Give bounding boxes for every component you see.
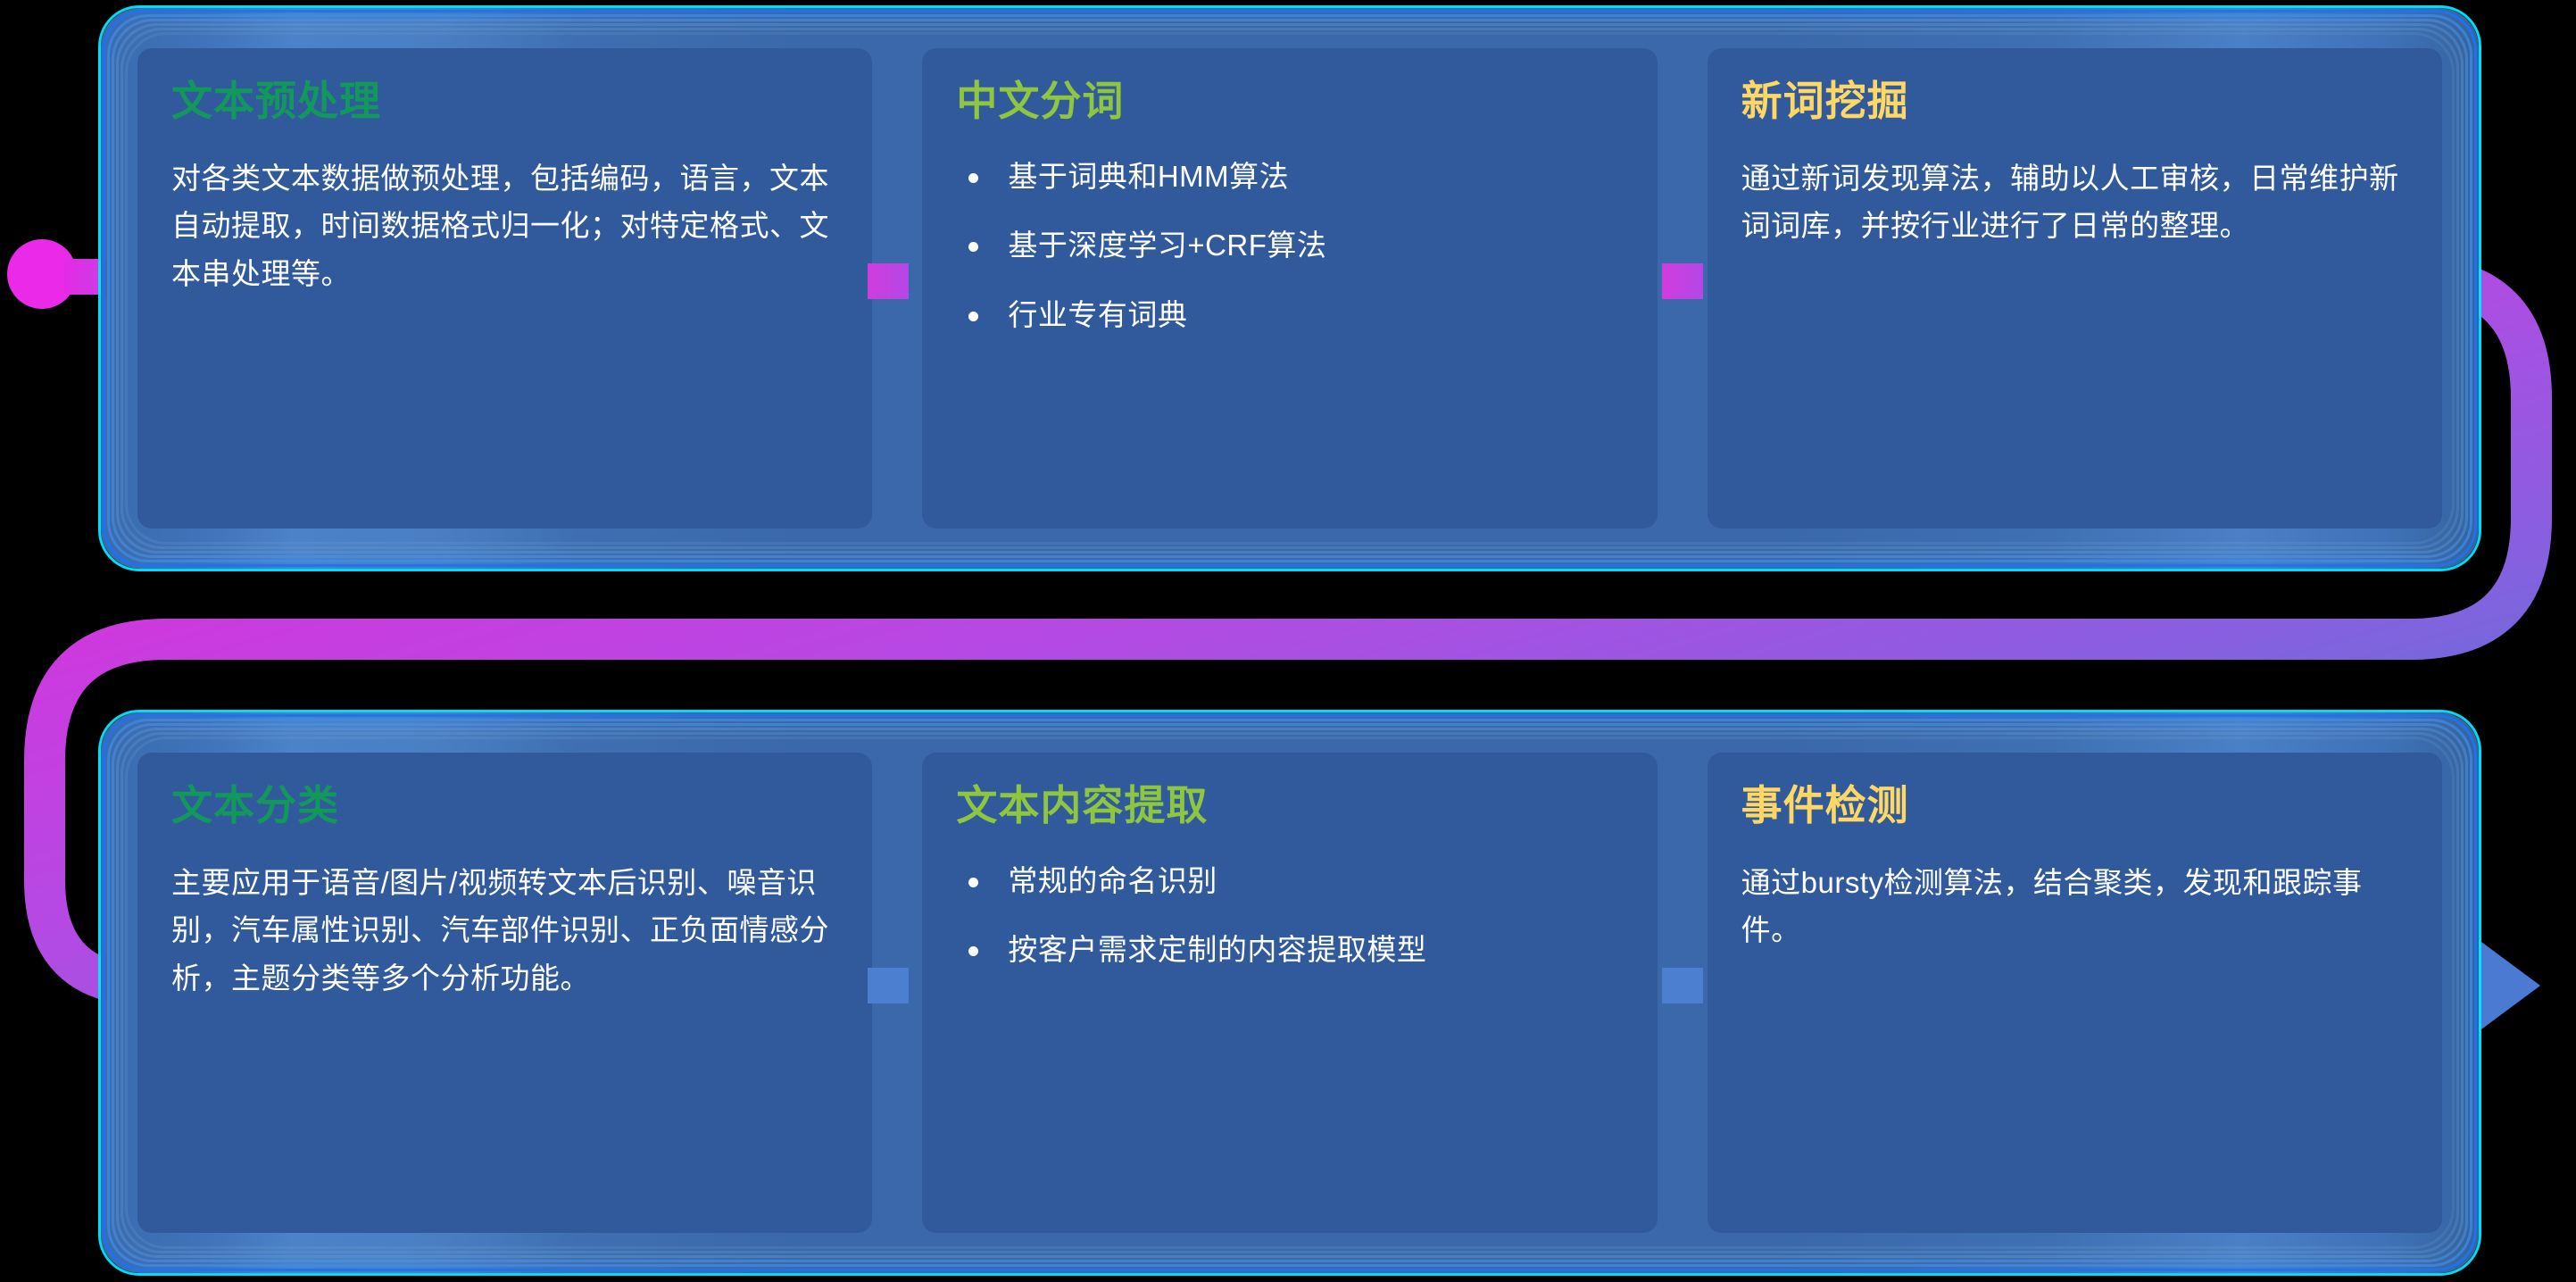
card-title: 文本分类 [171, 783, 838, 828]
card-bullet-list: 基于词典和HMM算法 基于深度学习+CRF算法 行业专有词典 [956, 154, 1623, 337]
card-title: 中文分词 [956, 79, 1623, 124]
row-top: 文本预处理 对各类文本数据做预处理，包括编码，语言，文本自动提取，时间数据格式归… [98, 5, 2481, 571]
row-bottom-cards: 文本分类 主要应用于语音/图片/视频转文本后识别、噪音识别，汽车属性识别、汽车部… [98, 710, 2481, 1276]
list-item: 基于词典和HMM算法 [956, 154, 1623, 199]
card-connector-chip [868, 968, 909, 1003]
card-text-preprocessing[interactable]: 文本预处理 对各类文本数据做预处理，包括编码，语言，文本自动提取，时间数据格式归… [137, 48, 872, 529]
list-item: 常规的命名识别 [956, 859, 1623, 903]
card-body-paragraph: 通过bursty检测算法，结合聚类，发现和跟踪事件。 [1741, 859, 2408, 954]
card-connector-chip [1662, 968, 1703, 1003]
card-connector-chip [1662, 263, 1703, 299]
card-body-paragraph: 主要应用于语音/图片/视频转文本后识别、噪音识别，汽车属性识别、汽车部件识别、正… [171, 859, 838, 1002]
card-connector-chip [868, 263, 909, 299]
card-body-paragraph: 对各类文本数据做预处理，包括编码，语言，文本自动提取，时间数据格式归一化；对特定… [171, 154, 838, 297]
list-item: 基于深度学习+CRF算法 [956, 223, 1623, 268]
flow-end-arrow-icon [2478, 939, 2540, 1032]
card-text-classification[interactable]: 文本分类 主要应用于语音/图片/视频转文本后识别、噪音识别，汽车属性识别、汽车部… [137, 753, 872, 1233]
list-item: 行业专有词典 [956, 293, 1623, 337]
card-new-word-discovery[interactable]: 新词挖掘 通过新词发现算法，辅助以人工审核，日常维护新词词库，并按行业进行了日常… [1708, 48, 2442, 529]
card-title: 文本内容提取 [956, 783, 1623, 828]
diagram-canvas: 文本预处理 对各类文本数据做预处理，包括编码，语言，文本自动提取，时间数据格式归… [0, 0, 2576, 1278]
row-top-cards: 文本预处理 对各类文本数据做预处理，包括编码，语言，文本自动提取，时间数据格式归… [98, 5, 2481, 571]
card-bullet-list: 常规的命名识别 按客户需求定制的内容提取模型 [956, 859, 1623, 972]
card-body-paragraph: 通过新词发现算法，辅助以人工审核，日常维护新词词库，并按行业进行了日常的整理。 [1741, 154, 2408, 250]
card-text-content-extraction[interactable]: 文本内容提取 常规的命名识别 按客户需求定制的内容提取模型 [922, 753, 1657, 1233]
card-chinese-word-segmentation[interactable]: 中文分词 基于词典和HMM算法 基于深度学习+CRF算法 行业专有词典 [922, 48, 1657, 529]
card-title: 事件检测 [1741, 783, 2408, 828]
card-title: 新词挖掘 [1741, 79, 2408, 124]
card-title: 文本预处理 [171, 79, 838, 124]
card-event-detection[interactable]: 事件检测 通过bursty检测算法，结合聚类，发现和跟踪事件。 [1708, 753, 2442, 1233]
list-item: 按客户需求定制的内容提取模型 [956, 928, 1623, 972]
row-bottom: 文本分类 主要应用于语音/图片/视频转文本后识别、噪音识别，汽车属性识别、汽车部… [98, 710, 2481, 1276]
